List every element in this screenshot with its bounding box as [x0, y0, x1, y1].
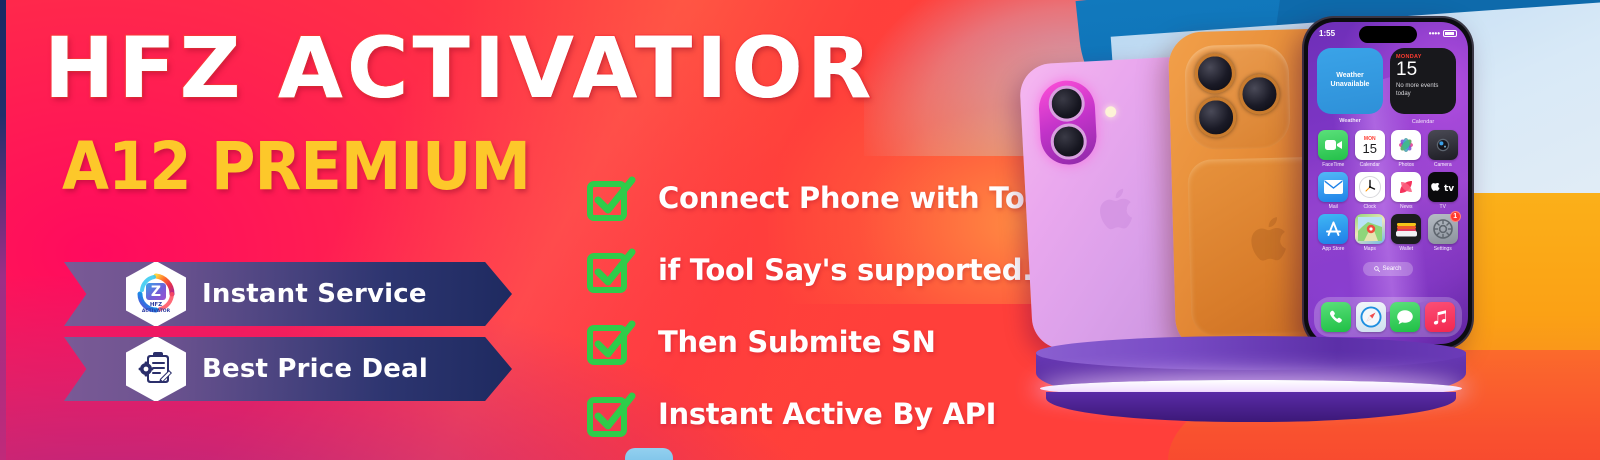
feature-badge-instant-service[interactable]: Z HFZ ACTIVATOR Instant Service	[64, 262, 512, 326]
logo-letter: Z	[151, 284, 161, 300]
clock-icon	[1355, 172, 1385, 202]
app-settings[interactable]: 1 Settings	[1427, 214, 1460, 252]
photos-icon	[1391, 130, 1421, 160]
camera-icon	[1428, 130, 1458, 160]
page-subtitle: A12 PREMIUM	[62, 134, 530, 200]
status-time: 1:55	[1319, 29, 1335, 38]
checklist-item: Then Submite SN	[586, 316, 1054, 368]
checklist-item-label: Instant Active By API	[658, 397, 996, 431]
green-checkbox-icon	[586, 246, 636, 294]
safari-icon[interactable]	[1356, 302, 1386, 332]
wallet-icon	[1391, 214, 1421, 244]
app-grid: FaceTime MON 15 Calendar	[1308, 114, 1468, 252]
dynamic-island	[1359, 26, 1417, 43]
feature-badge-list: Z HFZ ACTIVATOR Instant Service	[64, 262, 512, 401]
app-label: Mail	[1317, 204, 1350, 210]
widget-weather[interactable]: Weather Unavailable Weather	[1317, 48, 1383, 114]
app-maps[interactable]: Maps	[1354, 214, 1387, 252]
app-label: News	[1390, 204, 1423, 210]
facetime-icon	[1318, 130, 1348, 160]
left-edge-strip	[0, 0, 6, 460]
phone-home-screen: 1:55 •••• Weather Unavailable Weather MO…	[1308, 22, 1468, 344]
checklist-item: Connect Phone with Tool	[586, 172, 1054, 224]
app-label: App Store	[1317, 246, 1350, 252]
feature-badge-label: Instant Service	[202, 279, 427, 309]
feature-badge-label: Best Price Deal	[202, 354, 428, 384]
widget-weather-text: Weather Unavailable	[1321, 72, 1379, 90]
app-camera[interactable]: Camera	[1427, 130, 1460, 168]
logo-line-1: HFZ	[150, 302, 162, 308]
green-checkbox-icon	[586, 318, 636, 366]
dock	[1314, 297, 1462, 337]
mail-icon	[1318, 172, 1348, 202]
svg-text:tv: tv	[1444, 184, 1454, 193]
checklist-item-label: if Tool Say's supported.	[658, 253, 1033, 287]
bottom-blue-chip	[625, 448, 673, 460]
apple-logo-icon	[1098, 184, 1140, 234]
news-icon	[1391, 172, 1421, 202]
calendar-icon: MON 15	[1355, 130, 1385, 160]
app-calendar[interactable]: MON 15 Calendar	[1354, 130, 1387, 168]
page-title-text: HFZ ACTIVATIOR	[44, 26, 875, 110]
app-photos[interactable]: Photos	[1390, 130, 1423, 168]
promo-banner: HFZ ACTIVATIOR HFZ ACTIVATIOR A12 PREMIU…	[0, 0, 1600, 460]
appstore-icon	[1318, 214, 1348, 244]
app-news[interactable]: News	[1390, 172, 1423, 210]
app-facetime[interactable]: FaceTime	[1317, 130, 1350, 168]
feature-badge-best-price-deal[interactable]: Best Price Deal	[64, 337, 512, 401]
signal-icon: ••••	[1429, 29, 1440, 38]
clipboard-gear-pencil-icon	[126, 336, 186, 402]
messages-icon[interactable]	[1390, 302, 1420, 332]
widget-calendar-note: No more events today	[1396, 83, 1450, 99]
green-checkbox-icon	[586, 174, 636, 222]
phone-icon[interactable]	[1321, 302, 1351, 332]
product-photo-group: 1:55 •••• Weather Unavailable Weather MO…	[1022, 18, 1492, 408]
app-label: Photos	[1390, 162, 1423, 168]
checklist-item: if Tool Say's supported.	[586, 244, 1054, 296]
green-checkbox-icon	[586, 390, 636, 438]
app-label: Calendar	[1354, 162, 1387, 168]
app-wallet[interactable]: Wallet	[1390, 214, 1423, 252]
settings-badge-count: 1	[1450, 211, 1461, 222]
checklist-item-label: Connect Phone with Tool	[658, 181, 1054, 215]
hfz-activator-logo-icon: Z HFZ ACTIVATOR	[126, 261, 186, 327]
widget-calendar-date: 15	[1396, 60, 1450, 80]
checklist-item-label: Then Submite SN	[658, 325, 936, 359]
widget-calendar[interactable]: MONDAY 15 No more events today Calendar	[1390, 48, 1456, 114]
app-clock[interactable]: Clock	[1354, 172, 1387, 210]
settings-icon: 1	[1428, 214, 1458, 244]
battery-icon	[1443, 30, 1457, 37]
music-icon[interactable]	[1425, 302, 1455, 332]
camera-module-triple	[1184, 43, 1291, 150]
search-pill-label: Search	[1382, 266, 1401, 272]
search-pill[interactable]: Search	[1363, 262, 1413, 276]
camera-flash	[1105, 106, 1117, 118]
app-label: TV	[1427, 204, 1460, 210]
checklist-item: Instant Active By API	[586, 388, 1054, 440]
appletv-icon: tv	[1428, 172, 1458, 202]
feature-checklist: Connect Phone with Tool if Tool Say's su…	[586, 172, 1054, 440]
device-iphone-front: 1:55 •••• Weather Unavailable Weather MO…	[1304, 18, 1472, 348]
app-appstore[interactable]: App Store	[1317, 214, 1350, 252]
logo-line-2: ACTIVATOR	[142, 308, 171, 314]
widget-row: Weather Unavailable Weather MONDAY 15 No…	[1308, 42, 1468, 114]
apple-logo-icon	[1250, 212, 1295, 265]
app-label: FaceTime	[1317, 162, 1350, 168]
maps-icon	[1355, 214, 1385, 244]
display-podium	[1036, 336, 1466, 422]
page-title: HFZ ACTIVATIOR	[44, 26, 875, 110]
search-icon	[1374, 266, 1380, 272]
camera-module-dual	[1038, 79, 1098, 166]
app-mail[interactable]: Mail	[1317, 172, 1350, 210]
app-appletv[interactable]: tv TV	[1427, 172, 1460, 210]
app-label: Clock	[1354, 204, 1387, 210]
app-label: Camera	[1427, 162, 1460, 168]
app-label: Maps	[1354, 246, 1387, 252]
app-label: Wallet	[1390, 246, 1423, 252]
app-label: Settings	[1427, 246, 1460, 252]
calendar-icon-date: 15	[1363, 142, 1377, 156]
